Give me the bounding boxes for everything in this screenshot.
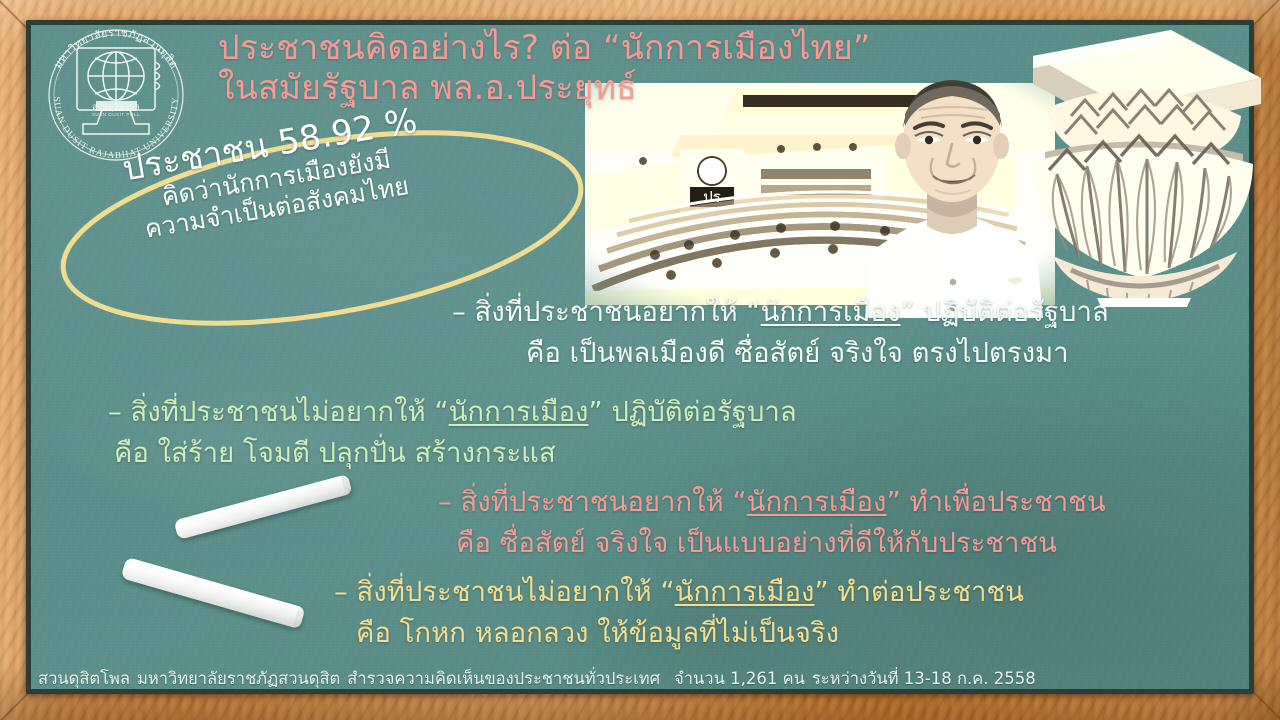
finding-line-1: – สิ่งที่ประชาชนไม่อยากให้ “นักการเมือง”… bbox=[334, 576, 1024, 608]
bullet-dash: – bbox=[438, 486, 452, 518]
seal-badge-thai: สวนดุสิตโพล bbox=[92, 102, 139, 113]
line1-suffix: ” ทำเพื่อประชาชน bbox=[886, 486, 1105, 518]
finding-line-2: คือ ใส่ร้าย โจมตี ปลุกปั่น สร้างกระแส bbox=[114, 433, 797, 474]
title-line-1: ประชาชนคิดอย่างไร? ต่อ “นักการเมืองไทย” bbox=[218, 28, 1038, 68]
finding-block-want-for-government: – สิ่งที่ประชาชนอยากให้ “นักการเมือง” ปฏ… bbox=[452, 292, 1109, 373]
finding-line-2: คือ เป็นพลเมืองดี ซื่อสัตย์ จริงใจ ตรงไป… bbox=[526, 333, 1109, 374]
finding-line-1: – สิ่งที่ประชาชนไม่อยากให้ “นักการเมือง”… bbox=[108, 396, 797, 428]
computer-globe-icon bbox=[77, 48, 160, 134]
finding-line-2: คือ โกหก หลอกลวง ให้ข้อมูลที่ไม่เป็นจริง bbox=[356, 613, 1024, 654]
line1-prefix: สิ่งที่ประชาชนอยากให้ “ bbox=[466, 296, 761, 328]
line1-suffix: ” ทำต่อประชาชน bbox=[814, 576, 1024, 608]
finding-line-2: คือ ซื่อสัตย์ จริงใจ เป็นแบบอย่างที่ดีให… bbox=[456, 523, 1106, 564]
line1-underlined-term: นักการเมือง bbox=[675, 576, 815, 608]
line1-prefix: สิ่งที่ประชาชนไม่อยากให้ “ bbox=[122, 396, 449, 428]
line1-underlined-term: นักการเมือง bbox=[747, 486, 887, 518]
finding-line-1: – สิ่งที่ประชาชนอยากให้ “นักการเมือง” ปฏ… bbox=[452, 296, 1109, 328]
line1-prefix: สิ่งที่ประชาชนไม่อยากให้ “ bbox=[348, 576, 675, 608]
footer-source: สวนดุสิตโพล bbox=[38, 669, 130, 688]
title-line-2: ในสมัยรัฐบาล พล.อ.ประยุทธ์ bbox=[218, 68, 1038, 108]
footer-date-range: ระหว่างวันที่ 13-18 ก.ค. 2558 bbox=[812, 669, 1036, 688]
finding-block-dont-want-for-government: – สิ่งที่ประชาชนไม่อยากให้ “นักการเมือง”… bbox=[108, 392, 797, 473]
line1-underlined-term: นักการเมือง bbox=[761, 296, 901, 328]
finding-block-want-for-people: – สิ่งที่ประชาชนอยากให้ “นักการเมือง” ทำ… bbox=[438, 482, 1106, 563]
footer-method: สำรวจความคิดเห็นของประชาชนทั่วประเทศ bbox=[347, 669, 660, 688]
bullet-dash: – bbox=[452, 296, 466, 328]
footer-sample-size: จำนวน 1,261 คน bbox=[674, 669, 805, 688]
finding-block-dont-want-for-people: – สิ่งที่ประชาชนไม่อยากให้ “นักการเมือง”… bbox=[334, 572, 1024, 653]
line1-prefix: สิ่งที่ประชาชนอยากให้ “ bbox=[452, 486, 747, 518]
line1-suffix: ” ปฏิบัติต่อรัฐบาล bbox=[588, 396, 796, 428]
poster-title: ประชาชนคิดอย่างไร? ต่อ “นักการเมืองไทย” … bbox=[218, 28, 1038, 108]
line1-underlined-term: นักการเมือง bbox=[449, 396, 589, 428]
seal-badge-english: SUAN DUSIT POLL bbox=[92, 112, 140, 117]
footer-institution: มหาวิทยาลัยราชภัฏสวนดุสิต bbox=[137, 669, 340, 688]
line1-suffix: ” ปฏิบัติต่อรัฐบาล bbox=[900, 296, 1108, 328]
bullet-dash: – bbox=[108, 396, 122, 428]
finding-line-1: – สิ่งที่ประชาชนอยากให้ “นักการเมือง” ทำ… bbox=[438, 486, 1106, 518]
footer-methodology: สวนดุสิตโพลมหาวิทยาลัยราชภัฏสวนดุสิตสำรว… bbox=[38, 666, 1248, 692]
bullet-dash: – bbox=[334, 576, 348, 608]
poll-infographic-poster: มหาวิทยาลัยราชภัฏสวนดุสิต SUAN DUSIT RAJ… bbox=[0, 0, 1280, 720]
